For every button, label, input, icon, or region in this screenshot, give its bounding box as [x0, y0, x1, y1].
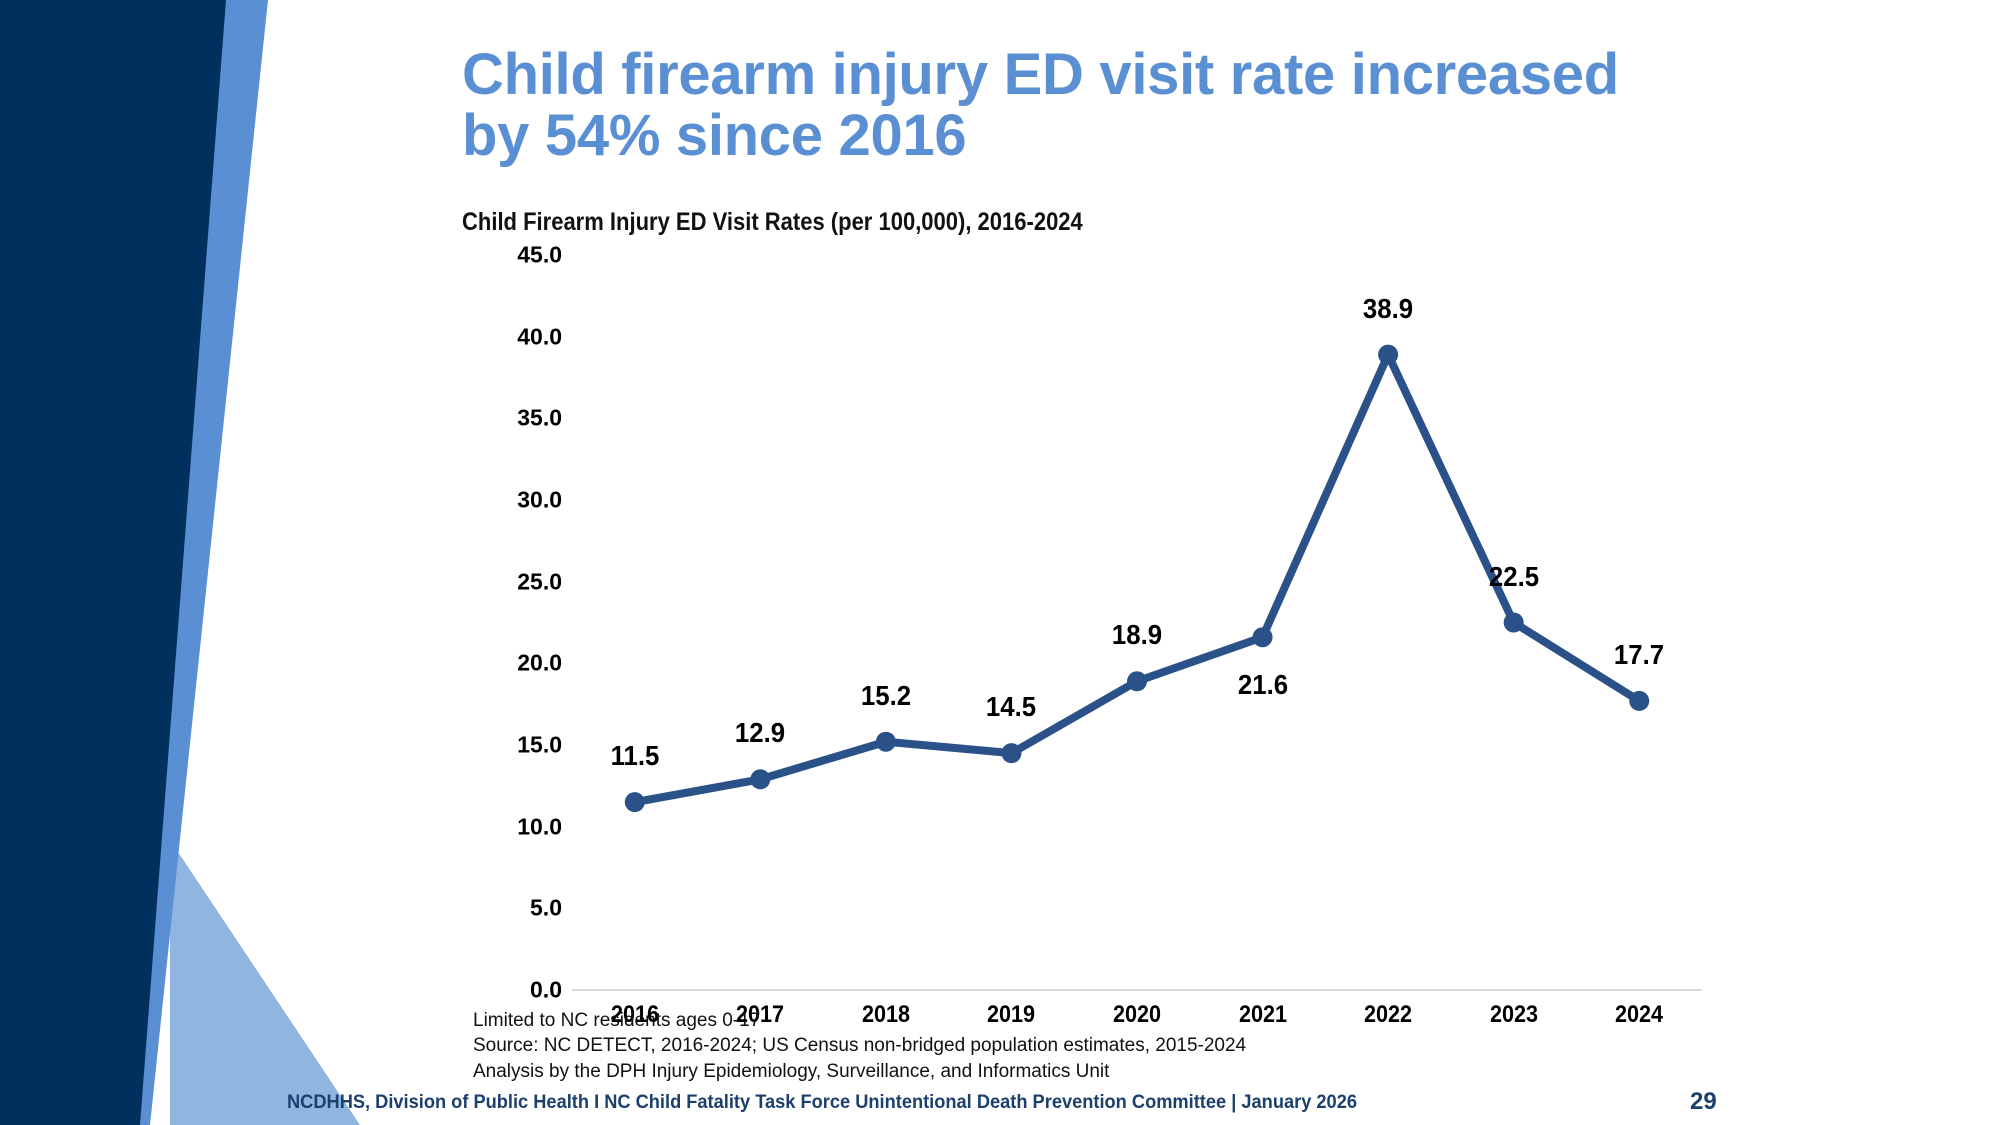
plot-wrap: 0.05.010.015.020.025.030.035.040.045.011…: [462, 247, 1702, 967]
footer-attribution: NCDHHS, Division of Public Health I NC C…: [287, 1092, 1357, 1114]
page-number: 29: [1690, 1088, 1717, 1116]
plot-area: 0.05.010.015.020.025.030.035.040.045.011…: [572, 255, 1702, 987]
footnote-line: Analysis by the DPH Injury Epidemiology,…: [473, 1059, 1246, 1084]
data-point-marker[interactable]: [1378, 345, 1398, 365]
data-point-label: 22.5: [1489, 561, 1539, 593]
data-point-label: 38.9: [1363, 293, 1413, 325]
chart-title: Child Firearm Injury ED Visit Rates (per…: [462, 208, 1553, 237]
data-point-marker[interactable]: [750, 769, 770, 789]
data-point-marker[interactable]: [1127, 671, 1147, 691]
x-axis-tick-label: 2024: [1585, 1001, 1693, 1029]
y-axis-tick-label: 0.0: [442, 977, 562, 1004]
y-axis-tick-label: 10.0: [442, 813, 562, 840]
data-point-label: 17.7: [1614, 639, 1664, 671]
y-axis-tick-label: 35.0: [442, 405, 562, 432]
data-point-marker[interactable]: [1001, 743, 1021, 763]
y-axis-tick-label: 45.0: [442, 242, 562, 269]
data-point-label: 15.2: [861, 680, 911, 712]
deco-navy-wedge: [0, 0, 226, 1125]
decorative-sidebar-graphic: [0, 0, 360, 1125]
data-point-marker[interactable]: [625, 792, 645, 812]
page-title: Child firearm injury ED visit rate incre…: [462, 44, 1692, 167]
data-point-label: 14.5: [986, 691, 1036, 723]
footnote-line: Source: NC DETECT, 2016-2024; US Census …: [473, 1033, 1246, 1058]
y-axis-tick-label: 40.0: [442, 323, 562, 350]
data-point-marker[interactable]: [1504, 613, 1524, 633]
y-axis-tick-label: 5.0: [442, 895, 562, 922]
data-point-label: 21.6: [1237, 669, 1287, 701]
y-axis-tick-label: 25.0: [442, 568, 562, 595]
data-point-label: 12.9: [735, 717, 785, 749]
footnote-line: Limited to NC residents ages 0-17: [473, 1008, 1246, 1033]
x-axis-tick-label: 2022: [1334, 1001, 1442, 1029]
deco-mid-blue-stripe: [55, 0, 268, 1125]
footnotes: Limited to NC residents ages 0-17 Source…: [473, 1008, 1246, 1084]
y-axis-tick-label: 20.0: [442, 650, 562, 677]
data-point-label: 11.5: [610, 740, 659, 772]
data-point-marker[interactable]: [876, 732, 896, 752]
deco-light-blue-triangle: [170, 840, 360, 1125]
x-axis-tick-label: 2023: [1460, 1001, 1568, 1029]
data-point-marker[interactable]: [1253, 627, 1273, 647]
chart-container: Child Firearm Injury ED Visit Rates (per…: [462, 208, 1702, 998]
slide: Child firearm injury ED visit rate incre…: [0, 0, 2000, 1125]
y-axis-tick-label: 30.0: [442, 487, 562, 514]
y-axis-tick-label: 15.0: [442, 732, 562, 759]
data-point-label: 18.9: [1112, 619, 1162, 651]
data-point-marker[interactable]: [1629, 691, 1649, 711]
